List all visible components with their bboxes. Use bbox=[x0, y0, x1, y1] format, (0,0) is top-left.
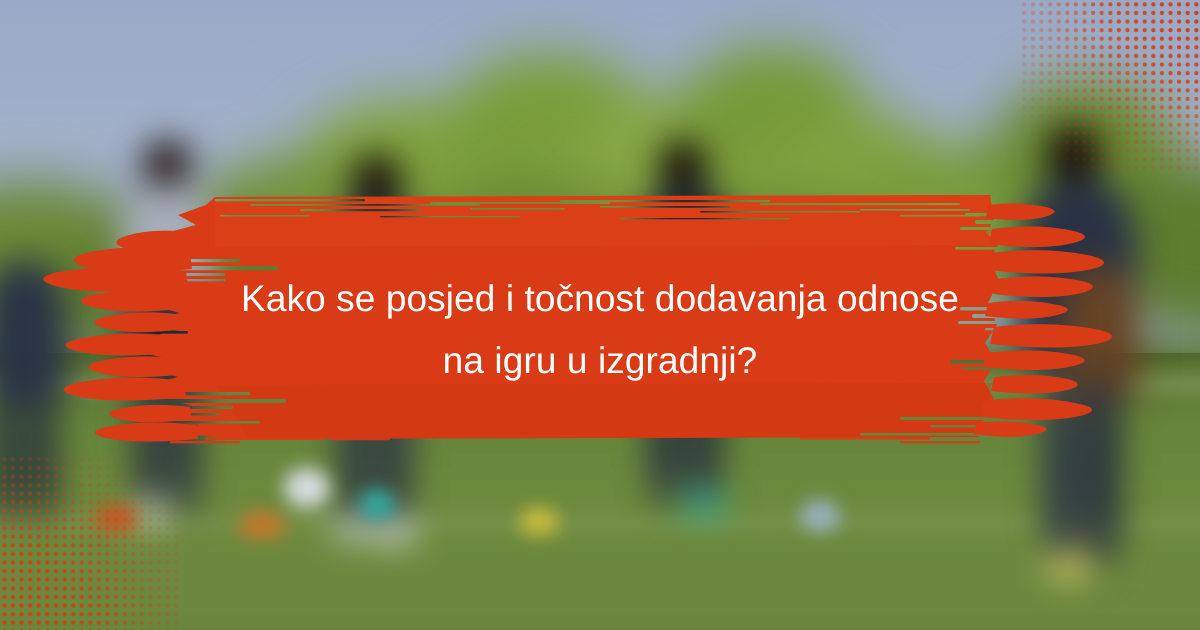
soccer-ball bbox=[360, 490, 394, 520]
training-cone bbox=[96, 505, 136, 531]
training-cone bbox=[520, 508, 558, 534]
social-share-card: Kako se posjed i točnost dodavanja odnos… bbox=[0, 0, 1200, 630]
soccer-ball bbox=[284, 468, 330, 508]
page-title: Kako se posjed i točnost dodavanja odnos… bbox=[0, 268, 1200, 392]
training-cone bbox=[240, 512, 284, 538]
soccer-ball bbox=[800, 500, 840, 532]
